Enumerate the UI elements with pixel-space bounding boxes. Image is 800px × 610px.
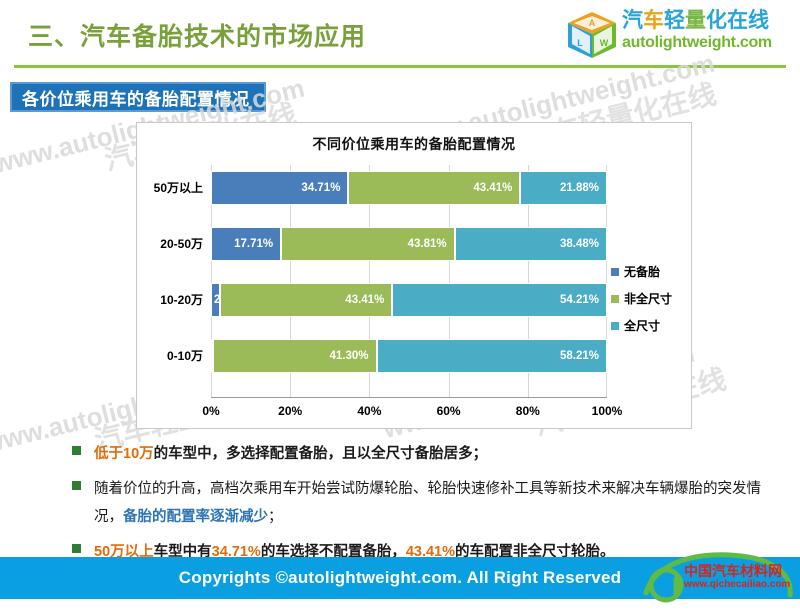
category-label: 20-50万: [160, 227, 203, 261]
partner-logo-url: www.qichecailiao.com: [684, 579, 790, 590]
category-label: 0-10万: [167, 339, 203, 373]
page-title: 三、汽车备胎技术的市场应用: [28, 17, 366, 53]
brand-cn-4: 量: [685, 9, 706, 32]
bar-data-label: 43.81%: [408, 238, 447, 250]
footer-bar: Copyrights ©autolightweight.com. All Rig…: [0, 557, 800, 599]
legend-label: 无备胎: [624, 263, 660, 280]
x-tick-label: 80%: [516, 404, 540, 418]
bar-segment-fullsize[interactable]: 38.48%: [455, 227, 607, 261]
bar-data-label: 54.21%: [560, 294, 599, 306]
bar-segment-compact[interactable]: 43.81%: [281, 227, 454, 261]
bar-segment-fullsize[interactable]: 58.21%: [377, 339, 607, 373]
category-label: 10-20万: [160, 283, 203, 317]
chart-bar-row: 50万以上 34.71% 43.41% 21.88%: [211, 171, 607, 205]
bar-segment-no-spare[interactable]: 17.71%: [211, 227, 281, 261]
brand-title-cn: 汽车轻量化在线: [622, 8, 788, 34]
brand-cn-2: 车: [643, 9, 664, 32]
x-axis-ticks: 0% 20% 40% 60% 80% 100%: [211, 404, 607, 424]
chart-container: 不同价位乘用车的备胎配置情况 50万以上 34.71% 43.41% 21.88…: [136, 122, 692, 429]
chart-bar-row: 10-20万 2.38% 43.41% 54.21%: [211, 283, 607, 317]
text-run: 备胎的配置率逐渐减少: [123, 509, 268, 525]
legend-item-compact[interactable]: 非全尺寸: [611, 290, 683, 307]
legend-swatch-icon: [611, 268, 619, 276]
legend-label: 全尺寸: [624, 317, 660, 334]
svg-text:W: W: [600, 38, 609, 48]
brand-cn-1: 汽: [622, 9, 643, 32]
legend-swatch-icon: [611, 295, 619, 303]
list-item: 低于10万的车型中，多选择配置备胎，且以全尺寸备胎居多；: [72, 440, 778, 468]
svg-text:L: L: [577, 38, 583, 48]
brand-cn-5: 化在线: [706, 9, 769, 32]
x-tick-label: 0%: [202, 404, 219, 418]
x-tick-label: 60%: [437, 404, 461, 418]
section-banner: 各价位乘用车的备胎配置情况: [10, 82, 266, 112]
bullet-text: 低于10万的车型中，多选择配置备胎，且以全尺寸备胎居多；: [94, 440, 778, 468]
legend-swatch-icon: [611, 322, 619, 330]
bar-data-label: 43.41%: [345, 294, 384, 306]
bullet-square-icon: [72, 544, 81, 553]
x-tick-label: 100%: [592, 404, 623, 418]
header-divider: [14, 65, 786, 68]
brand-logo: A L W 汽车轻量化在线 autolightweight.com: [566, 8, 788, 62]
chart-legend: 无备胎 非全尺寸 全尺寸: [611, 263, 683, 344]
section-banner-label: 各价位乘用车的备胎配置情况: [22, 85, 250, 110]
bullet-square-icon: [72, 481, 81, 490]
bar-data-label: 38.48%: [560, 238, 599, 250]
bar-segment-fullsize[interactable]: 54.21%: [392, 283, 607, 317]
bar-segment-compact[interactable]: 43.41%: [220, 283, 392, 317]
bar-segment-compact[interactable]: 41.30%: [213, 339, 377, 373]
bar-segment-fullsize[interactable]: 21.88%: [520, 171, 607, 205]
bullet-square-icon: [72, 446, 81, 455]
brand-domain: autolightweight.com: [622, 34, 788, 52]
chart-bar-row: 20-50万 17.71% 43.81% 38.48%: [211, 227, 607, 261]
bar-segment-no-spare[interactable]: 34.71%: [211, 171, 348, 205]
category-label: 50万以上: [154, 171, 203, 205]
chart-plot-area: 50万以上 34.71% 43.41% 21.88% 20-50万 17.71%…: [211, 165, 607, 398]
brand-cn-3: 轻: [664, 9, 685, 32]
bar-data-label: 21.88%: [560, 182, 599, 194]
bar-segment-compact[interactable]: 43.41%: [348, 171, 520, 205]
legend-item-no-spare[interactable]: 无备胎: [611, 263, 683, 280]
x-tick-label: 40%: [357, 404, 381, 418]
bullet-text: 随着价位的升高，高档次乘用车开始尝试防爆轮胎、轮胎快速修补工具等新技术来解决车辆…: [94, 475, 778, 531]
bar-data-label: 58.21%: [560, 350, 599, 362]
legend-label: 非全尺寸: [624, 290, 672, 307]
text-run: 的车型中，多选择配置备胎，且以全尺寸备胎居多；: [154, 446, 488, 462]
cube-logo-icon: A L W: [566, 10, 618, 60]
brand-text: 汽车轻量化在线 autolightweight.com: [622, 8, 788, 52]
partner-logo-name: 中国汽车材料网: [684, 561, 782, 581]
list-item: 随着价位的升高，高档次乘用车开始尝试防爆轮胎、轮胎快速修补工具等新技术来解决车辆…: [72, 475, 778, 531]
partner-logo: 中国汽车材料网 www.qichecailiao.com: [636, 549, 796, 605]
svg-text:A: A: [589, 18, 596, 28]
bar-data-label: 41.30%: [330, 350, 369, 362]
bar-segment-no-spare[interactable]: 2.38%: [211, 283, 220, 317]
chart-title: 不同价位乘用车的备胎配置情况: [137, 134, 691, 154]
legend-item-fullsize[interactable]: 全尺寸: [611, 317, 683, 334]
bar-data-label: 43.41%: [473, 182, 512, 194]
category-axis-line: [211, 397, 607, 398]
chart-bar-row: 0-10万 0.48% 41.30% 58.21%: [211, 339, 607, 373]
text-run: ；: [268, 509, 283, 525]
text-run: 低于10万: [94, 446, 154, 462]
bar-data-label: 17.71%: [234, 238, 273, 250]
bar-data-label: 34.71%: [301, 182, 340, 194]
x-tick-label: 20%: [278, 404, 302, 418]
